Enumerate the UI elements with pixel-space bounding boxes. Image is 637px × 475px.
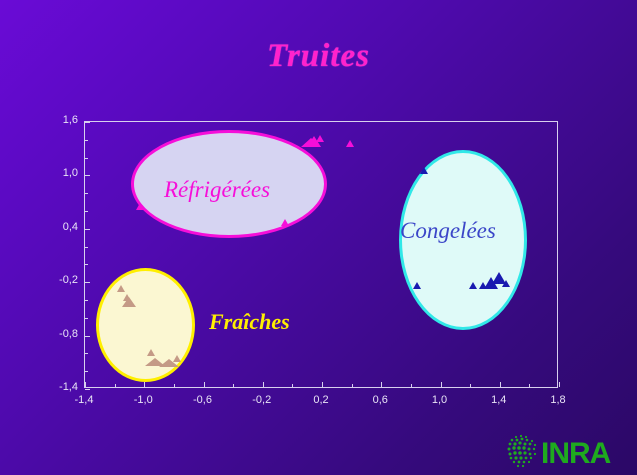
y-axis-tick	[85, 122, 90, 123]
y-axis-minor-tick	[85, 247, 88, 248]
slide-canvas: Truites Réfrigérées Congelées Fraîches	[0, 0, 637, 475]
y-axis-minor-tick	[85, 300, 88, 301]
x-axis-minor-tick	[529, 384, 530, 387]
x-axis-label: -0,6	[181, 394, 225, 406]
x-axis-tick	[500, 382, 501, 387]
x-axis-tick	[263, 382, 264, 387]
y-axis-label: -0,2	[38, 274, 78, 286]
y-axis-tick	[85, 389, 90, 390]
x-axis-minor-tick	[292, 384, 293, 387]
cluster-label-fraiches: Fraîches	[209, 309, 290, 335]
data-point-marker	[281, 219, 289, 226]
x-axis-minor-tick	[174, 384, 175, 387]
inra-logo: INRA	[505, 430, 630, 470]
x-axis-label: 0,6	[358, 394, 402, 406]
x-axis-label: -1,0	[121, 394, 165, 406]
y-axis-label: 1,6	[38, 114, 78, 126]
x-axis-label: 1,8	[536, 394, 580, 406]
x-axis-minor-tick	[115, 384, 116, 387]
x-axis-label: -0,2	[240, 394, 284, 406]
x-axis-tick	[441, 382, 442, 387]
x-axis-minor-tick	[233, 384, 234, 387]
cluster-label-congelees: Congelées	[400, 218, 496, 244]
y-axis-tick	[85, 175, 90, 176]
x-axis-label: -1,4	[62, 394, 106, 406]
y-axis-minor-tick	[85, 318, 88, 319]
x-axis-minor-tick	[470, 384, 471, 387]
data-point-marker	[420, 167, 428, 174]
y-axis-minor-tick	[85, 264, 88, 265]
x-axis-tick	[559, 382, 560, 387]
data-point-marker	[316, 135, 324, 142]
y-axis-minor-tick	[85, 211, 88, 212]
y-axis-label: 0,4	[38, 221, 78, 233]
x-axis-tick	[381, 382, 382, 387]
x-axis-label: 1,4	[477, 394, 521, 406]
data-point-marker	[147, 349, 155, 356]
y-axis-label: 1,0	[38, 167, 78, 179]
y-axis-minor-tick	[85, 353, 88, 354]
data-point-marker	[136, 203, 144, 210]
x-axis-tick	[144, 382, 145, 387]
data-point-marker	[117, 285, 125, 292]
y-axis-minor-tick	[85, 158, 88, 159]
y-axis-minor-tick	[85, 193, 88, 194]
inra-halftone-dots-icon	[508, 435, 537, 467]
data-point-marker	[122, 297, 136, 307]
y-axis-tick	[85, 282, 90, 283]
scatter-plot-frame: Réfrigérées Congelées Fraîches	[84, 121, 558, 388]
y-axis-label: -0,8	[38, 328, 78, 340]
y-axis-tick	[85, 336, 90, 337]
x-axis-tick	[204, 382, 205, 387]
y-axis-minor-tick	[85, 371, 88, 372]
x-axis-tick	[322, 382, 323, 387]
x-axis-label: 1,0	[418, 394, 462, 406]
x-axis-tick	[85, 382, 86, 387]
page-title: Truites	[0, 38, 637, 75]
data-point-marker	[346, 140, 354, 147]
data-point-marker	[173, 355, 181, 362]
x-axis-minor-tick	[411, 384, 412, 387]
inra-wordmark: INRA	[541, 437, 611, 470]
data-point-marker	[469, 282, 477, 289]
x-axis-label: 0,2	[299, 394, 343, 406]
y-axis-minor-tick	[85, 140, 88, 141]
x-axis-minor-tick	[352, 384, 353, 387]
data-point-marker	[502, 280, 510, 287]
data-point-marker	[413, 282, 421, 289]
y-axis-label: -1,4	[38, 381, 78, 393]
cluster-label-refrigerees: Réfrigérées	[164, 177, 270, 203]
y-axis-tick	[85, 229, 90, 230]
